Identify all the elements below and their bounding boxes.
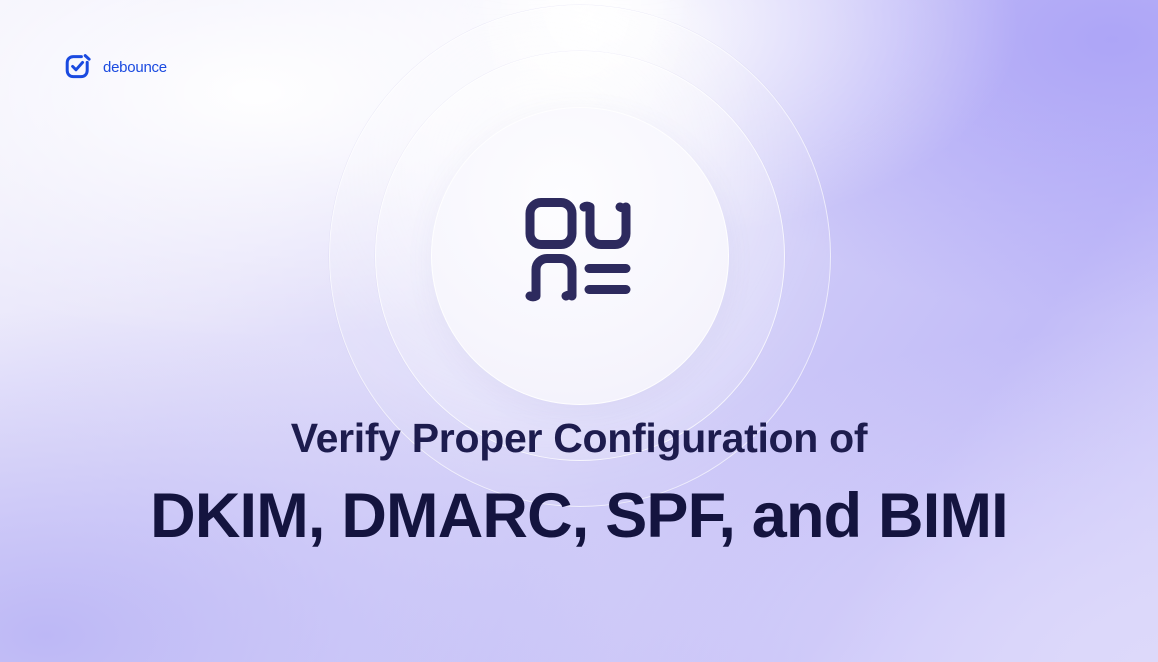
- brand-logo[interactable]: debounce: [61, 50, 181, 88]
- brand-wordmark: debounce: [103, 56, 181, 83]
- check-circle-square-icon: [61, 50, 94, 88]
- headline-line-1: Verify Proper Configuration of: [0, 418, 1158, 459]
- hero-banner: debounce Verify Proper Configuration of …: [0, 0, 1158, 662]
- hero-headline: Verify Proper Configuration of DKIM, DMA…: [0, 418, 1158, 548]
- qr-code-scan-icon: [525, 198, 635, 311]
- svg-text:debounce: debounce: [103, 59, 167, 76]
- headline-line-2: DKIM, DMARC, SPF, and BIMI: [0, 485, 1158, 548]
